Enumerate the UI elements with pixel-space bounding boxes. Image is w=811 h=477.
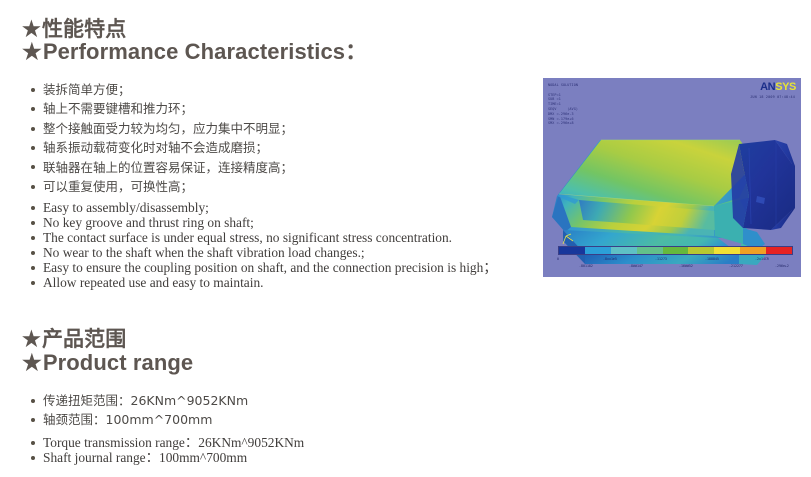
list-item: The contact surface is under equal stres… — [30, 230, 497, 245]
list-item: Torque transmission range：26KNm^9052KNm — [30, 435, 304, 450]
legend-label: .16##52 — [679, 264, 693, 268]
legend-swatch — [637, 247, 663, 254]
fea-title-block: NODAL SOLUTION STEP=1 SUB =1 TIME=1 SEQV… — [548, 83, 578, 126]
list-item: No key groove and thrust ring on shaft; — [30, 215, 497, 230]
section-1-bullets-cn: 装拆简单方便； 轴上不需要键槽和推力环； 整个接触面受力较为均匀，应力集中不明显… — [30, 80, 293, 196]
legend-label: .8xx1e5 — [603, 257, 617, 261]
legend-swatch — [559, 247, 585, 254]
legend-swatch — [766, 247, 792, 254]
ansys-logo: ANSYS — [760, 82, 796, 93]
ansys-logo-an: AN — [760, 81, 775, 93]
legend-swatch — [611, 247, 637, 254]
list-item: 装拆简单方便； — [30, 80, 293, 99]
contour-legend-labels-row1: 0 .8xx1e5 .11273 .188845 .2x14CR — [555, 257, 797, 263]
section-2-heading-cn-text: 产品范围 — [42, 328, 126, 351]
legend-swatch — [740, 247, 766, 254]
star-icon: ★ — [22, 38, 42, 65]
list-item: Shaft journal range：100mm^700mm — [30, 450, 304, 465]
section-2-heading-en: ★Product range — [22, 349, 193, 376]
section-1-heading-en: ★Performance Characteristics： — [22, 38, 367, 65]
section-1-bullets-en: Easy to assembly/disassembly; No key gro… — [30, 200, 497, 291]
list-item: 联轴器在轴上的位置容易保证，连接精度高； — [30, 158, 293, 177]
star-icon: ★ — [22, 349, 42, 376]
contour-legend-labels-row2: .801182 .8##147 .16##52 .212277 .296e+2 — [555, 264, 797, 270]
legend-swatch — [688, 247, 714, 254]
legend-label: .11273 — [655, 257, 667, 261]
legend-label: 0 — [557, 257, 559, 261]
legend-label: .212277 — [729, 264, 743, 268]
legend-label: .2x14CR — [755, 257, 769, 261]
fea-timestamp: JUN 18 2009 07:48:44 — [750, 95, 795, 100]
section-2-bullets-cn: 传递扭矩范围：26KNm^9052KNm 轴颈范围：100mm^700mm — [30, 391, 248, 430]
legend-label: .296e+2 — [775, 264, 789, 268]
list-item: Easy to assembly/disassembly; — [30, 200, 497, 215]
section-2-bullets-en: Torque transmission range：26KNm^9052KNm … — [30, 435, 304, 465]
ansys-logo-sys: SYS — [775, 81, 796, 93]
list-item: 轴颈范围：100mm^700mm — [30, 410, 248, 429]
list-item: 可以重复使用，可换性高； — [30, 177, 293, 196]
list-item: No wear to the shaft when the shaft vibr… — [30, 245, 497, 260]
section-1-heading-en-text: Performance Characteristics： — [43, 39, 367, 64]
legend-label: .801182 — [579, 264, 593, 268]
legend-swatch — [714, 247, 740, 254]
section-2-heading-en-text: Product range — [43, 350, 193, 375]
list-item: Easy to ensure the coupling position on … — [30, 260, 497, 275]
contour-legend-colorbar — [558, 246, 793, 255]
list-item: 传递扭矩范围：26KNm^9052KNm — [30, 391, 248, 410]
legend-label: .8##147 — [629, 264, 643, 268]
legend-label: .188845 — [705, 257, 719, 261]
ansys-fea-figure: NODAL SOLUTION STEP=1 SUB =1 TIME=1 SEQV… — [543, 78, 801, 277]
list-item: 轴上不需要键槽和推力环； — [30, 99, 293, 118]
legend-swatch — [585, 247, 611, 254]
list-item: Allow repeated use and easy to maintain. — [30, 275, 497, 290]
list-item: 轴系振动载荷变化时对轴不会造成磨损； — [30, 138, 293, 157]
list-item: 整个接触面受力较为均匀，应力集中不明显； — [30, 119, 293, 138]
legend-swatch — [663, 247, 689, 254]
catalog-page: ★性能特点 ★Performance Characteristics： 装拆简单… — [0, 0, 811, 477]
